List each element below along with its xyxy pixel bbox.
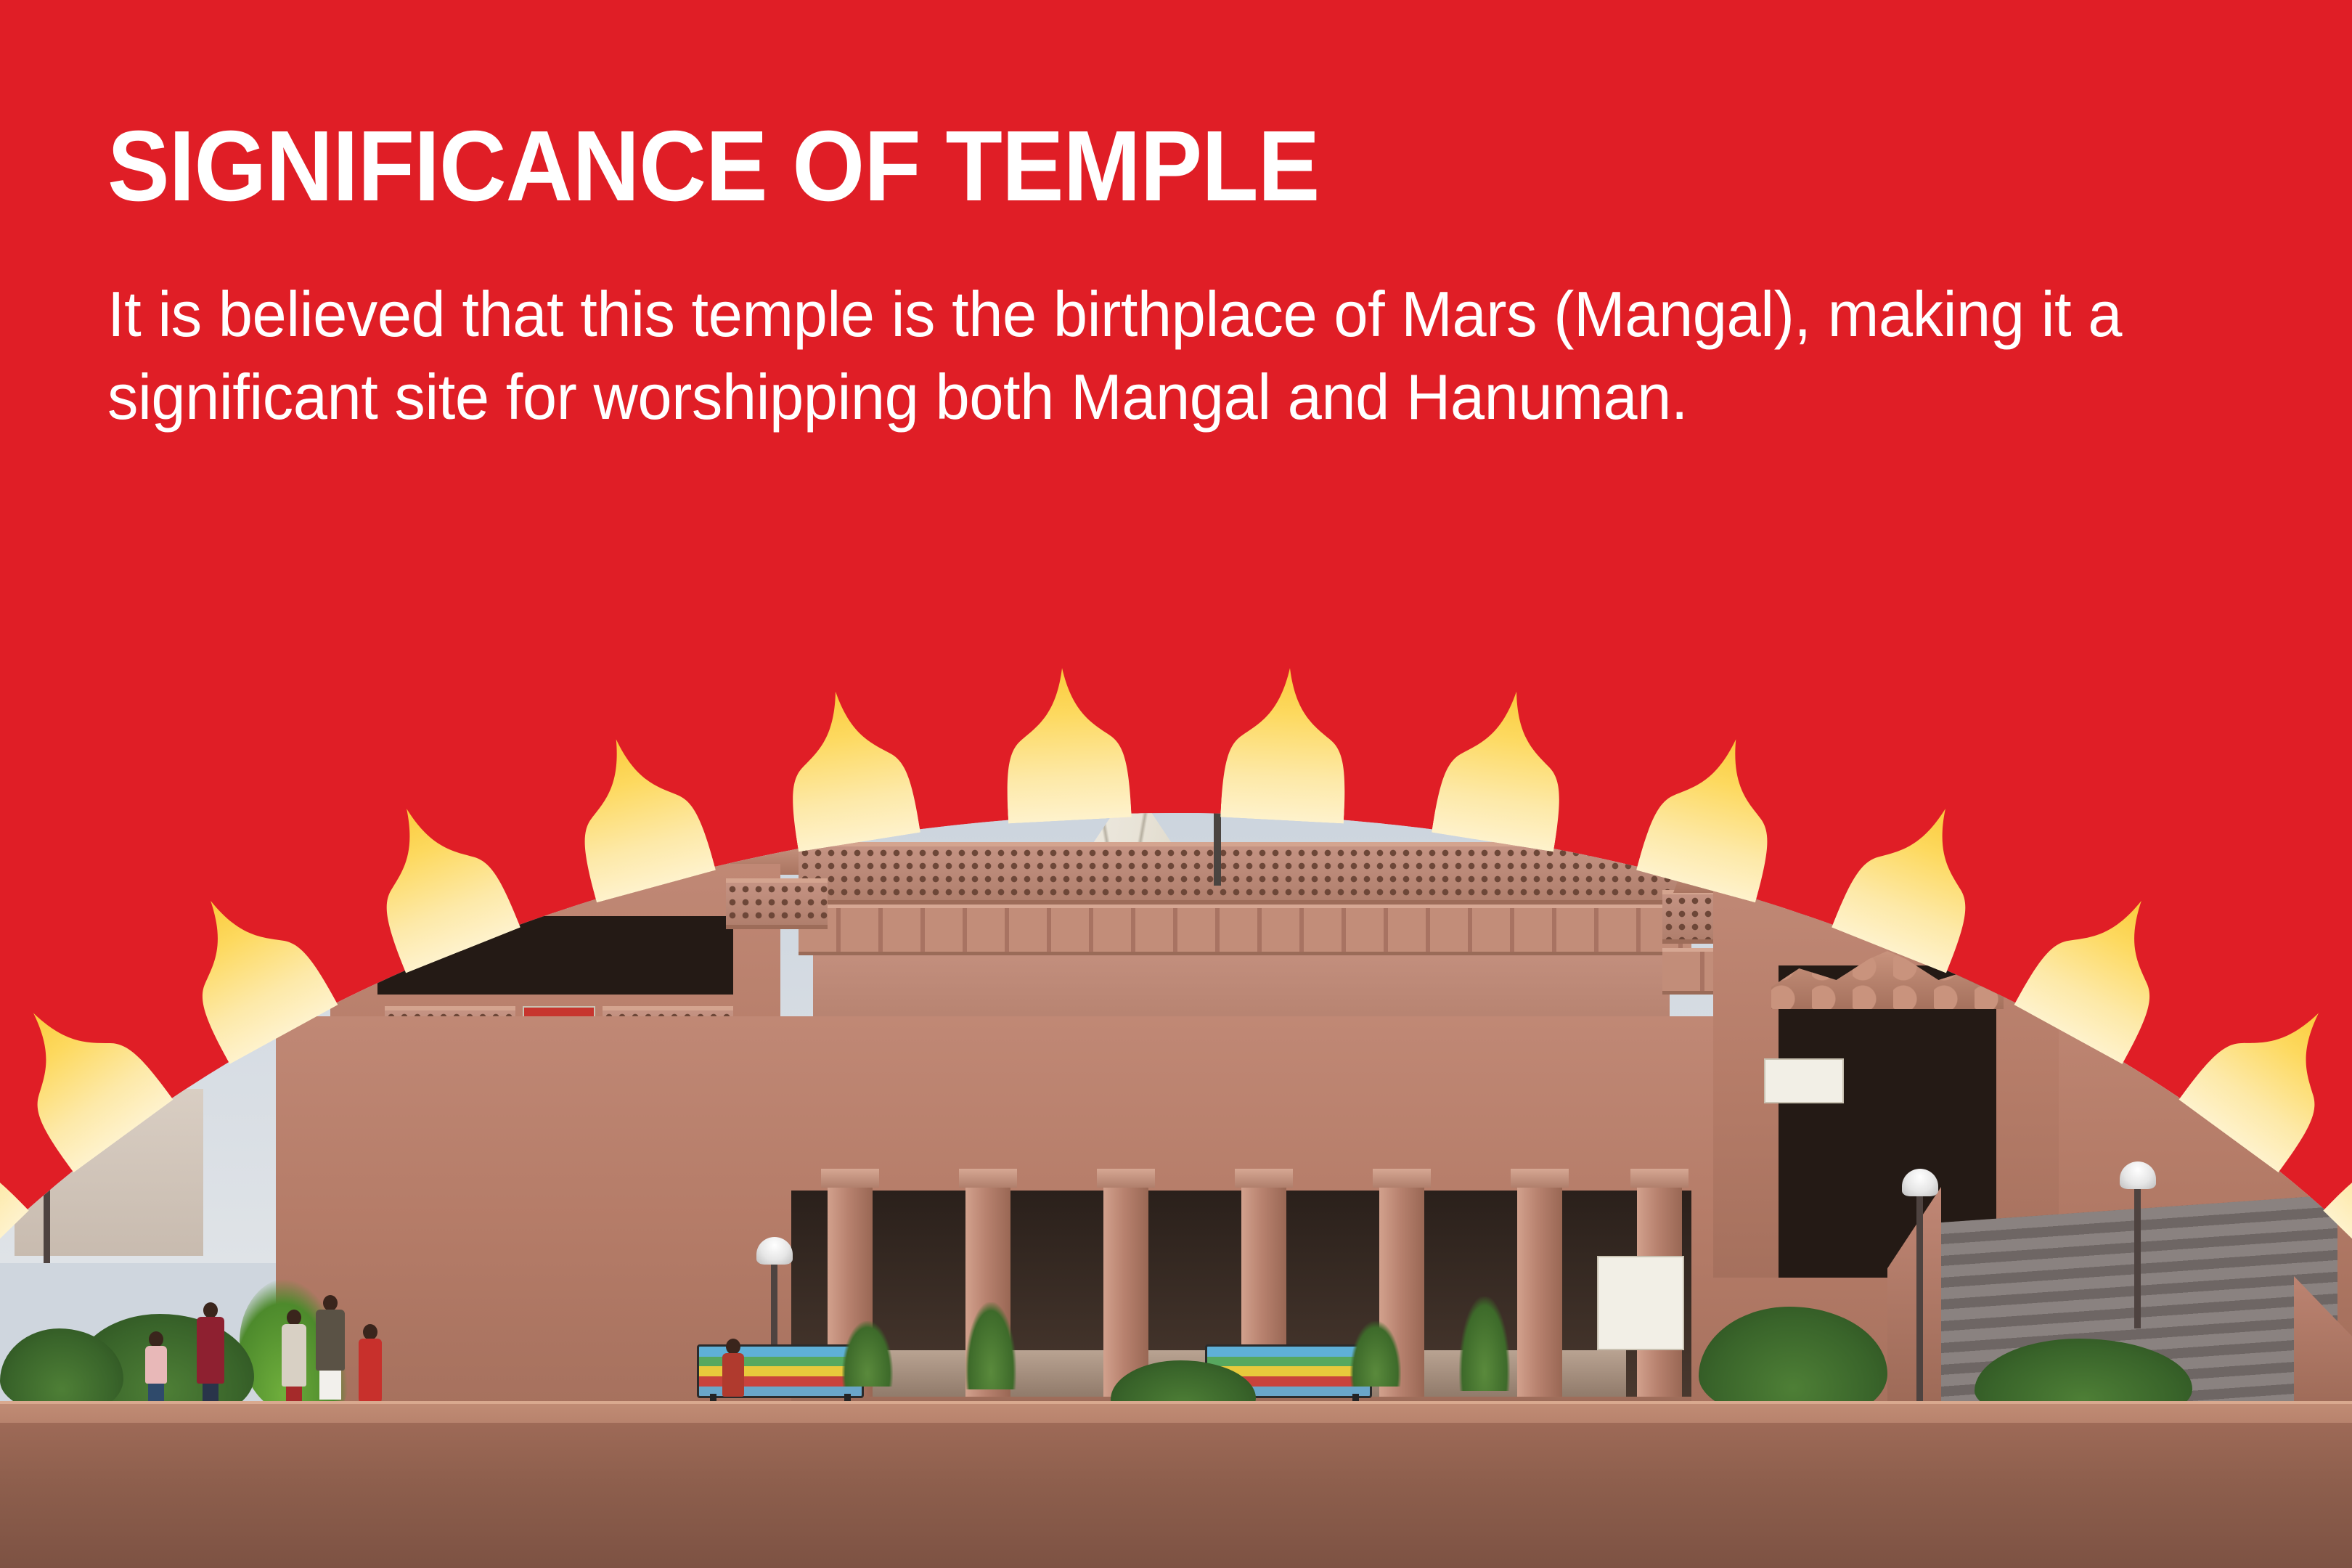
right-dome-finial [0,912,20,955]
floodlight-pole [1214,740,1221,886]
text-content-block: SIGNIFICANCE OF TEMPLE It is believed th… [107,116,2213,438]
left-chhatri-base [15,1089,203,1256]
poster-board [1597,1256,1684,1350]
left-chhatri-spire [0,828,22,878]
tower-column [348,740,389,837]
kalash-finial [1123,740,1142,777]
photo-arch-clip [0,740,2352,1568]
person-head [323,1295,338,1311]
person-head [363,1324,377,1340]
left-tower-open-storey [341,740,777,837]
person-head [726,1339,740,1355]
page-title: SIGNIFICANCE OF TEMPLE [107,116,2065,216]
person-torso [282,1324,306,1387]
far-right-dome [2236,784,2352,893]
lamp-post [2134,1183,2141,1328]
person-head [287,1310,301,1326]
person-torso [722,1353,744,1397]
lamp-post [1916,1191,1923,1401]
lamp-head [29,1118,65,1146]
floodlight-reflector [2175,740,2223,756]
left-dome-finial [0,878,23,912]
floodlight-head [2165,740,2224,756]
sapling [1350,1321,1401,1387]
hindi-notice-sign [1764,1058,1844,1103]
dome-ribs [2236,784,2352,893]
left-chhatri-dome [0,740,131,828]
tower-jali-screen [392,779,733,837]
flag-pole [1109,740,1113,777]
person-torso [145,1346,167,1384]
temple-photo-region [0,740,2352,1568]
person-head [149,1331,163,1347]
sapling [1459,1297,1510,1391]
person-torso [359,1339,382,1407]
amalaka-disc [1108,772,1156,797]
person-torso [316,1310,345,1371]
floodlight-pole [2185,740,2192,983]
body-paragraph: It is believed that this temple is the b… [107,273,2139,438]
dome-ribs [1768,740,2014,858]
roof-carved-band [799,905,1691,955]
sapling [842,1321,893,1387]
sapling [965,1302,1016,1389]
slide-root: SIGNIFICANCE OF TEMPLE It is believed th… [0,0,2352,1568]
verandah-column [1379,1183,1424,1423]
right-pavilion-dome [1768,740,2014,858]
tower-window-recess [377,916,733,995]
person-torso [197,1317,224,1384]
antenna-mast [1154,740,1157,784]
lamp-post [44,1140,50,1263]
dome-carved-band [1782,822,1999,845]
temple-photograph [0,740,2352,1568]
right-tower-eave [1673,858,2109,893]
tower-column [733,740,774,837]
verandah-column [1517,1183,1562,1423]
roof-jali-railing [799,842,1691,905]
person-head [203,1302,218,1318]
plaza-ground [0,1423,2352,1568]
roof-jali-railing [726,878,828,929]
person-legs [319,1371,341,1400]
